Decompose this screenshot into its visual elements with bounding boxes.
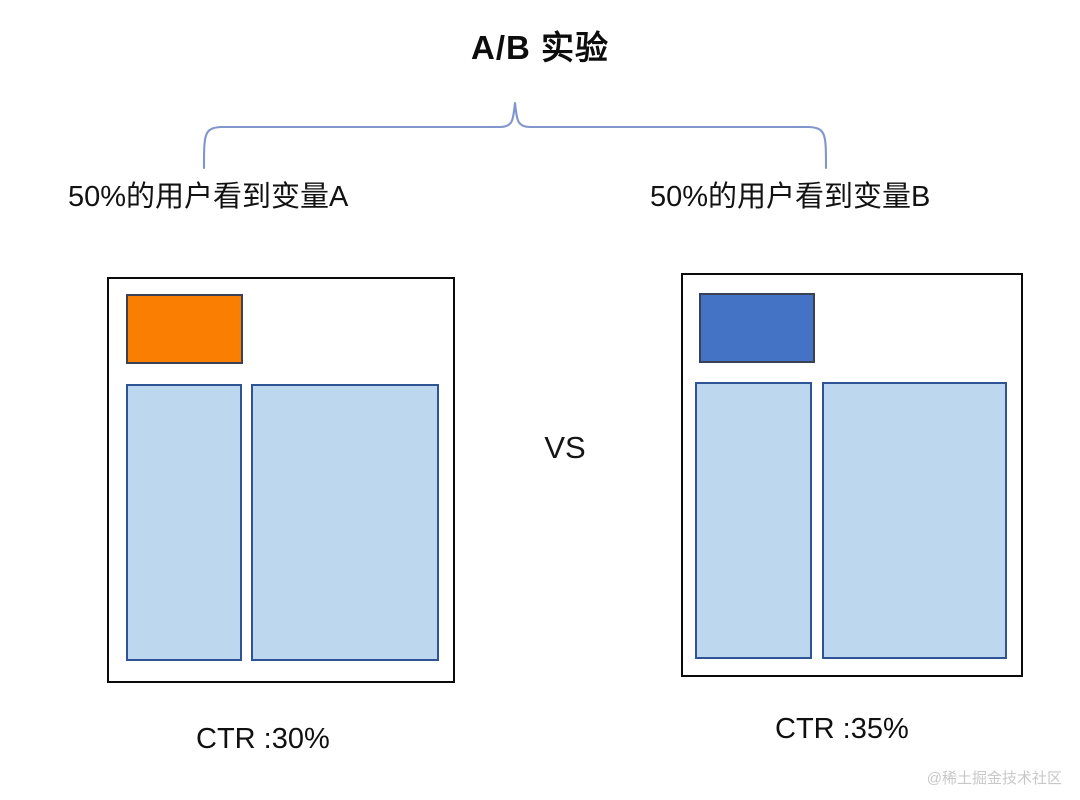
variant-b-hero-block [699,293,815,363]
variant-a-ctr-label: CTR :30% [196,718,330,760]
variant-b-ctr-label: CTR :35% [775,708,909,750]
page-title: A/B 实验 [0,26,1080,70]
variant-b-split-label: 50%的用户看到变量B [650,176,930,218]
watermark: @稀土掘金技术社区 [927,768,1062,790]
brace-icon [195,100,835,170]
vs-label: VS [510,427,620,469]
variant-b-screen [681,273,1023,677]
variant-a-screen [107,277,455,683]
variant-b-content-block-left [695,382,812,659]
variant-a-split-label: 50%的用户看到变量A [68,176,348,218]
diagram-canvas: A/B 实验 50%的用户看到变量A 50%的用户看到变量B VS CTR :3… [0,0,1080,800]
split-brace [195,100,835,170]
variant-b-content-block-right [822,382,1007,659]
variant-a-content-block-left [126,384,242,661]
variant-a-hero-block [126,294,243,364]
variant-a-content-block-right [251,384,439,661]
